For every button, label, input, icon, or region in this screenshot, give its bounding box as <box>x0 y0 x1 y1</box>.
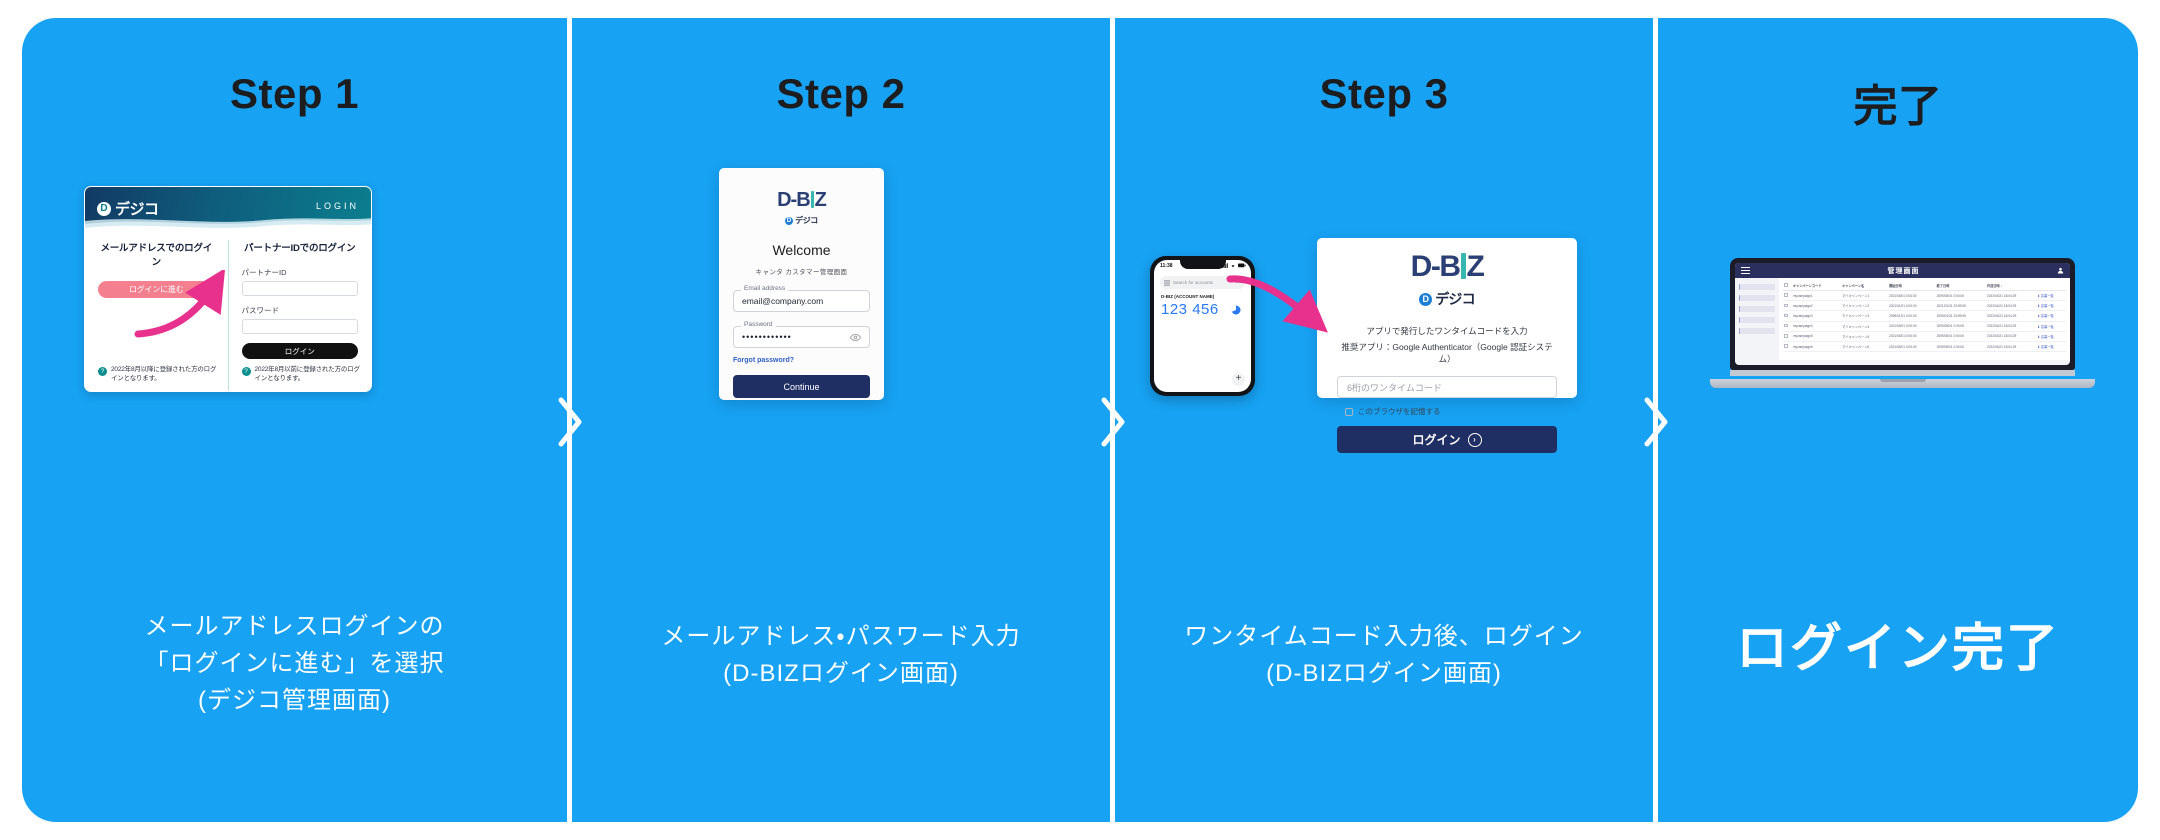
td-end: 2099/05/01 0:00:00 <box>1936 321 1986 331</box>
degica-password-label: パスワード <box>242 305 359 316</box>
td-action[interactable]: ⬇ 応募一覧 <box>2036 291 2066 301</box>
step-1-caption: メールアドレスログインの 「ログインに進む」を選択 (デジコ管理画面) <box>22 608 567 720</box>
td-code: mycampaign4 <box>1792 321 1841 331</box>
degica-mark-icon-2: D <box>785 217 793 225</box>
account-icon[interactable] <box>2057 267 2064 274</box>
help-icon-left: ? <box>98 367 107 376</box>
panel-step-3: Step 3 <box>1115 18 1653 822</box>
td-code: mycampaign5 <box>1792 331 1841 341</box>
td-end: 2099/05/01 0:00:00 <box>1936 331 1986 341</box>
otp-remember-browser-row[interactable]: このブラウザを記憶する <box>1337 406 1557 417</box>
admin-title: 管理画面 <box>1888 266 1920 276</box>
th-created[interactable]: 作成日時 ↓ <box>1986 281 2036 291</box>
th-select <box>1783 281 1792 291</box>
table-row[interactable]: mycampaign6マイキャンペーン62021/05/01 0:00:0020… <box>1783 341 2066 351</box>
th-name[interactable]: キャンペーン名 <box>1841 281 1888 291</box>
degica-login-word: LOGIN <box>316 201 359 211</box>
otp-logo-left: D-B <box>1411 250 1460 283</box>
admin-sidebar <box>1735 278 1779 360</box>
phone-notch <box>1180 260 1226 269</box>
wifi-icon <box>1230 263 1236 268</box>
dbiz-password-label: Password <box>741 321 776 328</box>
row-checkbox[interactable] <box>1784 344 1788 348</box>
degica-partner-note: ? 2022年8月以前に登録された方のログインとなります。 <box>242 366 364 384</box>
otp-remember-checkbox[interactable] <box>1345 408 1353 416</box>
td-select[interactable] <box>1783 331 1792 341</box>
th-end[interactable]: 終了日時 <box>1936 281 1986 291</box>
dbiz-welcome-description: キャンタ カスタマー管理画面 <box>733 266 870 276</box>
step-1-title: Step 1 <box>22 70 567 118</box>
campaign-table: キャンペーンコード キャンペーン名 開始日時 終了日時 作成日時 ↓ mycam… <box>1783 281 2066 352</box>
laptop-screen: 管理画面 <box>1735 263 2070 365</box>
table-row[interactable]: mycampaign1マイキャンペーン12021/05/01 0:00:0020… <box>1783 291 2066 301</box>
phone-add-button[interactable]: + <box>1232 373 1245 386</box>
laptop-base <box>1710 379 2095 388</box>
th-action <box>2036 281 2066 291</box>
dbiz-email-label: Email address <box>741 285 788 292</box>
td-start: 2021/05/01 0:00:00 <box>1888 291 1936 301</box>
degica-partner-id-input[interactable] <box>242 281 359 296</box>
degica-email-note: ? 2022年8月以降に登録された方のログインとなります。 <box>98 366 220 384</box>
infographic-root: Step 1 D デジコ LOGIN メールアドレスでのログ <box>0 0 2160 840</box>
step-2-caption-line-1: メールアドレス・パスワード入力 <box>572 618 1110 655</box>
otp-login-button[interactable]: ログイン › <box>1337 426 1557 453</box>
otp-dbiz-logo: D-BZ <box>1337 252 1557 282</box>
dbiz-continue-button[interactable]: Continue <box>733 375 870 398</box>
td-action[interactable]: ⬇ 応募一覧 <box>2036 301 2066 311</box>
td-select[interactable] <box>1783 301 1792 311</box>
td-created: 2022/04/21 18:04:29 <box>1986 291 2036 301</box>
td-code: mycampaign6 <box>1792 341 1841 351</box>
step-1-caption-line-3: (デジコ管理画面) <box>22 682 567 719</box>
sidebar-item-placeholder[interactable] <box>1739 295 1775 301</box>
phone-account-name: D-BIZ (ACCOUNT NAME) <box>1161 294 1214 299</box>
step-4-caption-line-1: ログイン完了 <box>1658 618 2138 680</box>
arrow-right-circle-icon: › <box>1468 433 1482 447</box>
td-end: 2099/05/01 0:00:00 <box>1936 341 1986 351</box>
degica-logo-mark-icon: D <box>97 202 111 216</box>
otp-instruction-line-1: アプリで発行したワンタイムコードを入力 <box>1337 325 1557 337</box>
dbiz-otp-card: D-BZ D デジコ アプリで発行したワンタイムコードを入力 推奨アプリ：Goo… <box>1317 238 1577 398</box>
dbiz-password-value: •••••••••••• <box>742 332 792 342</box>
row-checkbox[interactable] <box>1784 304 1788 308</box>
battery-icon <box>1238 263 1246 268</box>
row-checkbox[interactable] <box>1784 314 1788 318</box>
panel-step-4: 完了 <box>1658 18 2138 822</box>
hamburger-icon-admin[interactable] <box>1741 266 1750 276</box>
td-select[interactable] <box>1783 341 1792 351</box>
td-name: マイキャンペーン6 <box>1841 341 1888 351</box>
step-3-caption: ワンタイムコード入力後、ログイン (D-BIZログイン画面) <box>1115 618 1653 692</box>
degica-partner-heading: パートナーIDでのログイン <box>242 240 359 254</box>
otp-sub-brand: D デジコ <box>1337 289 1557 309</box>
td-created: 2022/04/21 18:04:29 <box>1986 311 2036 321</box>
row-checkbox[interactable] <box>1784 334 1788 338</box>
degica-email-note-text: 2022年8月以降に登録された方のログインとなります。 <box>111 366 220 384</box>
degica-login-submit-button[interactable]: ログイン <box>242 343 359 359</box>
pink-arrow-icon-1 <box>132 270 252 340</box>
td-action[interactable]: ⬇ 応募一覧 <box>2036 331 2066 341</box>
eye-icon[interactable] <box>850 332 861 343</box>
wave-divider-icon <box>85 215 372 229</box>
td-name: マイキャンペーン1 <box>1841 291 1888 301</box>
degica-mark-icon-3: D <box>1419 293 1432 306</box>
step-2-caption-line-2: (D-BIZログイン画面) <box>572 655 1110 692</box>
dbiz-email-value: email@company.com <box>742 296 823 306</box>
td-start: 2021/05/01 0:00:00 <box>1888 331 1936 341</box>
td-code: mycampaign1 <box>1792 291 1841 301</box>
td-name: マイキャンペーン4 <box>1841 321 1888 331</box>
dbiz-welcome-card: D-BZ D デジコ Welcome キャンタ カスタマー管理画面 Email … <box>719 168 884 400</box>
degica-sub-name-2: デジコ <box>795 215 818 226</box>
td-name: マイキャンペーン2 <box>1841 301 1888 311</box>
otp-remember-label: このブラウザを記憶する <box>1358 406 1441 417</box>
dbiz-forgot-password-link[interactable]: Forgot password? <box>733 357 870 364</box>
otp-logo-right: Z <box>1467 250 1484 283</box>
step-1-caption-line-2: 「ログインに進む」を選択 <box>22 645 567 682</box>
sidebar-item-placeholder[interactable] <box>1739 328 1775 334</box>
phone-status-icons <box>1222 263 1246 268</box>
step-2-title: Step 2 <box>572 70 1110 118</box>
laptop-hinge <box>1730 370 2075 376</box>
sidebar-item-placeholder[interactable] <box>1739 306 1775 312</box>
degica-partner-id-label: パートナーID <box>242 267 359 278</box>
td-select[interactable] <box>1783 291 1792 301</box>
panel-step-1: Step 1 D デジコ LOGIN メールアドレスでのログ <box>22 18 567 822</box>
dbiz-logo-right: Z <box>815 189 826 211</box>
td-end: 2099/01/31 23:59:59 <box>1936 311 1986 321</box>
th-code[interactable]: キャンペーンコード <box>1792 281 1841 291</box>
dbiz-password-field-wrap: Password •••••••••••• <box>733 326 870 348</box>
td-created: 2022/04/21 18:04:29 <box>1986 341 2036 351</box>
td-code: mycampaign3 <box>1792 311 1841 321</box>
td-select[interactable] <box>1783 321 1792 331</box>
hamburger-icon-phone <box>1164 280 1170 286</box>
dbiz-logo-bar-icon <box>811 191 814 208</box>
table-body: mycampaign1マイキャンペーン12021/05/01 0:00:0020… <box>1783 291 2066 352</box>
step-3-title: Step 3 <box>1115 70 1653 118</box>
admin-table-area: キャンペーンコード キャンペーン名 開始日時 終了日時 作成日時 ↓ mycam… <box>1779 278 2070 360</box>
phone-otp-code: 123 456 <box>1161 301 1219 318</box>
panel-step-2: Step 2 <box>572 18 1110 822</box>
degica-card-header: D デジコ LOGIN <box>85 187 371 228</box>
degica-sub-name-3: デジコ <box>1435 289 1475 309</box>
steps-board: Step 1 D デジコ LOGIN メールアドレスでのログ <box>22 18 2138 822</box>
dbiz-welcome-heading: Welcome <box>733 242 870 258</box>
td-name: マイキャンペーン3 <box>1841 311 1888 321</box>
otp-logo-bar-icon <box>1461 253 1466 279</box>
degica-email-heading: メールアドレスでのログイン <box>98 240 215 268</box>
row-checkbox[interactable] <box>1784 324 1788 328</box>
dbiz-email-input[interactable]: email@company.com <box>733 290 870 312</box>
row-checkbox[interactable] <box>1784 293 1788 297</box>
otp-code-input[interactable]: 6桁のワンタイムコード <box>1337 376 1557 398</box>
td-end: 2021/01/31 23:59:59 <box>1936 301 1986 311</box>
dbiz-password-input[interactable]: •••••••••••• <box>733 326 870 348</box>
table-row[interactable]: mycampaign2マイキャンペーン22021/01/01 0:00:0020… <box>1783 301 2066 311</box>
pink-arrow-icon-2 <box>1222 273 1342 333</box>
sidebar-item-placeholder[interactable] <box>1739 317 1775 323</box>
otp-login-button-label: ログイン <box>1412 431 1460 448</box>
degica-password-input[interactable] <box>242 319 359 334</box>
td-code: mycampaign2 <box>1792 301 1841 311</box>
dbiz-sub-brand: D デジコ <box>733 215 870 226</box>
table-row[interactable]: mycampaign3マイキャンペーン32099/01/01 0:00:0020… <box>1783 311 2066 321</box>
table-row[interactable]: mycampaign4マイキャンペーン42021/05/01 0:00:0020… <box>1783 321 2066 331</box>
admin-content: キャンペーンコード キャンペーン名 開始日時 終了日時 作成日時 ↓ mycam… <box>1735 278 2070 360</box>
laptop-lid: 管理画面 <box>1730 258 2075 370</box>
dbiz-email-field-wrap: Email address email@company.com <box>733 290 870 312</box>
signal-icon <box>1222 263 1228 268</box>
dbiz-logo-left: D-B <box>777 189 810 211</box>
step-3-caption-line-1: ワンタイムコード入力後、ログイン <box>1115 618 1653 655</box>
admin-topbar: 管理画面 <box>1735 263 2070 278</box>
td-start: 2021/05/01 0:00:00 <box>1888 341 1936 351</box>
step-2-caption: メールアドレス・パスワード入力 (D-BIZログイン画面) <box>572 618 1110 692</box>
laptop-mockup: 管理画面 <box>1710 258 2095 388</box>
phone-status-time: 11:38 <box>1160 263 1173 269</box>
select-all-checkbox[interactable] <box>1784 283 1788 287</box>
td-action[interactable]: ⬇ 応募一覧 <box>2036 341 2066 351</box>
td-start: 2099/01/01 0:00:00 <box>1888 311 1936 321</box>
td-action[interactable]: ⬇ 応募一覧 <box>2036 321 2066 331</box>
td-action[interactable]: ⬇ 応募一覧 <box>2036 311 2066 321</box>
dbiz-logo: D-BZ <box>733 190 870 210</box>
td-start: 2021/05/01 0:00:00 <box>1888 321 1936 331</box>
help-icon-right: ? <box>242 367 251 376</box>
td-end: 2099/05/01 0:00:00 <box>1936 291 1986 301</box>
step-1-caption-line-1: メールアドレスログインの <box>22 608 567 645</box>
step-3-caption-line-2: (D-BIZログイン画面) <box>1115 655 1653 692</box>
th-start[interactable]: 開始日時 <box>1888 281 1936 291</box>
td-created: 2022/04/21 18:04:29 <box>1986 331 2036 341</box>
step-4-title: 完了 <box>1658 70 2138 134</box>
otp-instruction-line-2: 推奨アプリ：Google Authenticator（Google 認証システム… <box>1337 341 1557 365</box>
td-created: 2022/04/21 18:04:29 <box>1986 321 2036 331</box>
td-name: マイキャンペーン5 <box>1841 331 1888 341</box>
sidebar-item-placeholder[interactable] <box>1739 284 1775 290</box>
table-row[interactable]: mycampaign5マイキャンペーン52021/05/01 0:00:0020… <box>1783 331 2066 341</box>
table-header-row: キャンペーンコード キャンペーン名 開始日時 終了日時 作成日時 ↓ <box>1783 281 2066 291</box>
td-start: 2021/01/01 0:00:00 <box>1888 301 1936 311</box>
step-4-caption: ログイン完了 <box>1658 618 2138 680</box>
td-select[interactable] <box>1783 311 1792 321</box>
degica-partner-note-text: 2022年8月以前に登録された方のログインとなります。 <box>255 366 364 384</box>
td-created: 2022/04/21 18:04:29 <box>1986 301 2036 311</box>
